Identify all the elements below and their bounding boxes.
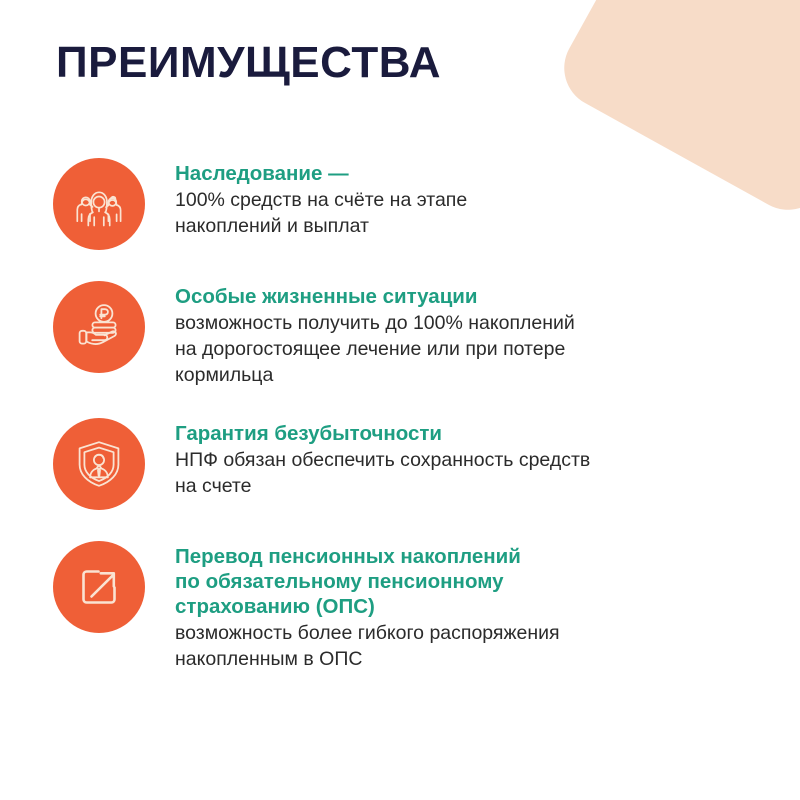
- benefit-icon-circle: [53, 418, 145, 510]
- benefit-heading: Перевод пенсионных накоплений по обязате…: [175, 544, 560, 619]
- family-group-icon: [73, 178, 125, 230]
- benefit-icon-circle: [53, 541, 145, 633]
- benefit-icon-circle: [53, 281, 145, 373]
- slide-root: ПРЕИМУЩЕСТВА: [0, 0, 800, 800]
- benefit-body: возможность более гибкого распоряжения н…: [175, 620, 560, 672]
- benefit-item-guarantee: Гарантия безубыточности НПФ обязан обесп…: [0, 415, 800, 510]
- benefit-text-block: Перевод пенсионных накоплений по обязате…: [145, 538, 560, 672]
- benefits-list: Наследование — 100% средств на счёте на …: [0, 155, 800, 672]
- benefit-item-special-situations: Особые жизненные ситуации возможность по…: [0, 278, 800, 388]
- benefit-item-inheritance: Наследование — 100% средств на счёте на …: [0, 155, 800, 250]
- hand-with-ruble-coins-icon: [72, 300, 126, 354]
- shield-with-person-icon: [72, 437, 126, 491]
- benefit-text-block: Особые жизненные ситуации возможность по…: [145, 278, 575, 388]
- benefit-body: НПФ обязан обеспечить сохранность средст…: [175, 447, 590, 499]
- export-arrow-icon: [74, 562, 124, 612]
- benefit-icon-circle: [53, 158, 145, 250]
- benefit-heading: Особые жизненные ситуации: [175, 284, 575, 309]
- benefit-text-block: Наследование — 100% средств на счёте на …: [145, 155, 467, 239]
- benefit-item-transfer: Перевод пенсионных накоплений по обязате…: [0, 538, 800, 672]
- benefit-body: возможность получить до 100% накоплений …: [175, 310, 575, 388]
- benefit-body: 100% средств на счёте на этапе накоплени…: [175, 187, 467, 239]
- page-title: ПРЕИМУЩЕСТВА: [56, 37, 441, 89]
- benefit-heading: Наследование —: [175, 161, 467, 186]
- benefit-text-block: Гарантия безубыточности НПФ обязан обесп…: [145, 415, 590, 499]
- benefit-heading: Гарантия безубыточности: [175, 421, 590, 446]
